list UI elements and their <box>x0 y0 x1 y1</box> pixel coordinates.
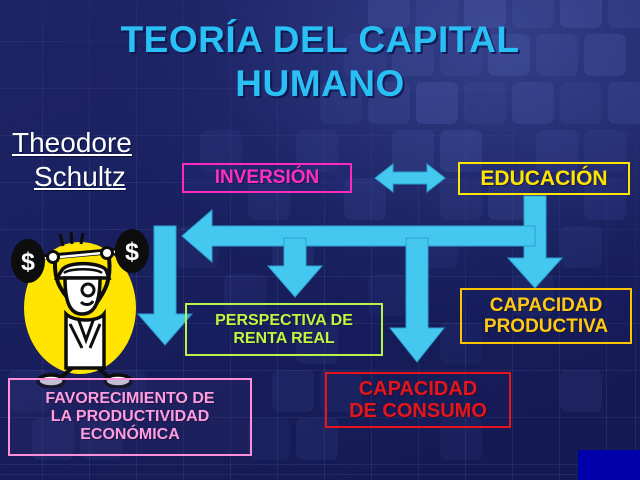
concept-box-capacidad-consumo[interactable]: CAPACIDAD DE CONSUMO <box>325 372 511 428</box>
mascot-monocle <box>82 284 94 296</box>
inversion-educacion-double-arrow <box>375 164 445 192</box>
trunk-to-capacidad-consumo-arrow <box>390 238 444 362</box>
concept-box-favorecimiento-label: FAVORECIMIENTO DE LA PRODUCTIVIDAD ECONÓ… <box>10 390 250 444</box>
concept-box-educacion-label: EDUCACIÓN <box>460 167 628 191</box>
corner-accent-block <box>578 450 640 480</box>
concept-box-educacion[interactable]: EDUCACIÓN <box>458 162 630 195</box>
concept-box-capacidad-consumo-label: CAPACIDAD DE CONSUMO <box>327 378 509 423</box>
mascot-head <box>65 278 100 314</box>
mascot-hat <box>57 264 109 278</box>
trunk-to-perspectiva-arrow <box>268 238 322 297</box>
svg-text:$: $ <box>125 238 139 266</box>
svg-text:$: $ <box>21 248 35 276</box>
concept-box-perspectiva-renta-real[interactable]: PERSPECTIVA DE RENTA REAL <box>185 303 383 356</box>
concept-box-capacidad-productiva-label: CAPACIDAD PRODUCTIVA <box>462 295 630 338</box>
concept-box-inversion[interactable]: INVERSIÓN <box>182 163 352 193</box>
slide-canvas: TEORÍA DEL CAPITAL HUMANO Theodore Schul… <box>0 0 640 480</box>
distribution-trunk-arrow <box>182 210 535 262</box>
weightlifter-mascot-icon: $ $ <box>8 228 158 388</box>
concept-box-inversion-label: INVERSIÓN <box>184 167 350 188</box>
concept-box-capacidad-productiva[interactable]: CAPACIDAD PRODUCTIVA <box>460 288 632 344</box>
concept-box-perspectiva-label: PERSPECTIVA DE RENTA REAL <box>187 312 381 348</box>
concept-box-favorecimiento-productividad[interactable]: FAVORECIMIENTO DE LA PRODUCTIVIDAD ECONÓ… <box>8 378 252 456</box>
